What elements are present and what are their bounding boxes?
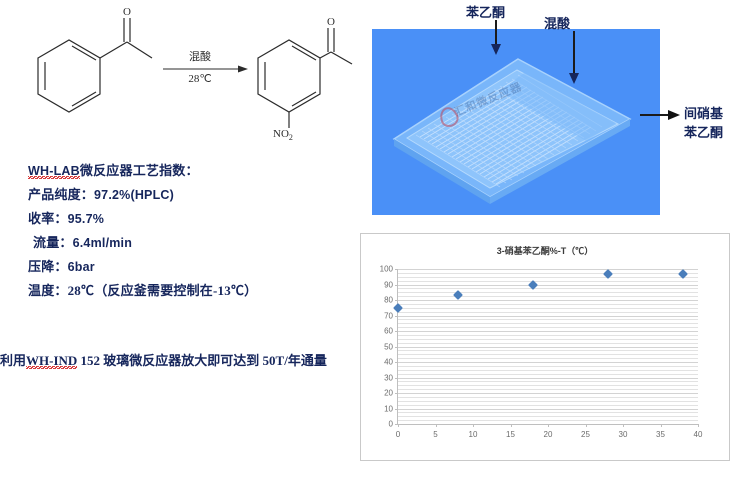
callout-label-product-line2: 苯乙酮 xyxy=(684,123,723,142)
chart-y-tick-label: 60 xyxy=(384,327,393,336)
chart-y-tick-label: 10 xyxy=(384,404,393,413)
carbonyl-oxygen-right: O xyxy=(327,16,335,28)
info-row-pressure-drop: 压降：6bar xyxy=(28,256,365,275)
chart-gridline-major xyxy=(398,285,698,286)
nitro-group-label: NO2 xyxy=(273,128,293,142)
chart-gridline xyxy=(398,335,698,336)
callout-label-acetophenone: 苯乙酮 xyxy=(466,3,505,22)
callout-label-mixed-acid: 混酸 xyxy=(544,14,570,33)
chart-x-tick-label: 40 xyxy=(694,430,703,439)
chart-gridline xyxy=(398,412,698,413)
chart-x-tick-mark xyxy=(586,424,587,427)
chart-gridline-major xyxy=(398,393,698,394)
chart-gridline xyxy=(398,385,698,386)
chart-y-tick-mark xyxy=(395,362,398,363)
chart-gridline xyxy=(398,420,698,421)
process-index-block: WH-LAB微反应器工艺指数： 产品纯度：97.2%(HPLC) 收率：95.7… xyxy=(0,160,365,304)
chart-gridline-major xyxy=(398,300,698,301)
chart-y-tick-label: 80 xyxy=(384,296,393,305)
chart-gridline-major xyxy=(398,331,698,332)
chart-gridline xyxy=(398,323,698,324)
chart-y-tick-mark xyxy=(395,378,398,379)
chart-x-tick-mark xyxy=(548,424,549,427)
callout-arrow-acetophenone-line xyxy=(495,20,497,47)
conversion-chart-panel: 3-硝基苯乙酮%-T（℃） 0102030405060708090100 051… xyxy=(360,233,730,461)
chart-gridline xyxy=(398,416,698,417)
info-row-purity: 产品纯度：97.2%(HPLC) xyxy=(28,184,365,203)
chart-gridline xyxy=(398,405,698,406)
chart-gridline-major xyxy=(398,409,698,410)
chart-x-tick-label: 10 xyxy=(469,430,478,439)
chart-gridline-major xyxy=(398,347,698,348)
chart-gridline xyxy=(398,397,698,398)
chart-x-tick-label: 35 xyxy=(656,430,665,439)
chart-gridline xyxy=(398,381,698,382)
chart-y-tick-mark xyxy=(395,347,398,348)
chart-gridline-major xyxy=(398,269,698,270)
callout-arrow-product-head xyxy=(668,109,681,122)
callout-arrow-mixed-acid-head xyxy=(567,73,581,85)
reaction-reagent-label: 混酸 xyxy=(172,48,228,64)
chart-plot-area: 0102030405060708090100 0510152025303540 xyxy=(397,269,698,425)
chart-gridline xyxy=(398,281,698,282)
reaction-arrow-head xyxy=(238,66,248,73)
info-row-temperature: 温度：28℃（反应釜需要控制在-13℃） xyxy=(28,280,365,299)
chart-y-tick-label: 90 xyxy=(384,280,393,289)
chart-y-tick-label: 40 xyxy=(384,358,393,367)
microreactor-photo: 汇和微反应器 xyxy=(372,29,660,215)
chart-y-tick-label: 100 xyxy=(380,265,393,274)
chart-y-tick-mark xyxy=(395,300,398,301)
chart-y-tick-mark xyxy=(395,331,398,332)
chart-gridline xyxy=(398,350,698,351)
callout-arrow-acetophenone-head xyxy=(489,44,503,56)
chart-x-tick-label: 30 xyxy=(619,430,628,439)
process-index-heading-code: WH-LAB xyxy=(28,164,80,179)
chart-x-tick-mark xyxy=(661,424,662,427)
microreactor-illustration xyxy=(372,29,660,215)
chart-gridline xyxy=(398,308,698,309)
reaction-temperature-label: 28℃ xyxy=(172,72,228,85)
chart-y-tick-label: 30 xyxy=(384,373,393,382)
chart-gridline xyxy=(398,319,698,320)
chart-title: 3-硝基苯乙酮%-T（℃） xyxy=(361,244,729,257)
chart-gridline xyxy=(398,354,698,355)
chart-gridline xyxy=(398,343,698,344)
chart-x-tick-label: 0 xyxy=(396,430,400,439)
chart-gridline xyxy=(398,292,698,293)
chart-y-tick-mark xyxy=(395,269,398,270)
scaleup-model-code: WH-IND xyxy=(26,353,77,369)
chart-gridline xyxy=(398,358,698,359)
chart-gridline xyxy=(398,277,698,278)
chart-gridline xyxy=(398,288,698,289)
chart-y-tick-mark xyxy=(395,316,398,317)
chart-gridline xyxy=(398,389,698,390)
chart-gridline xyxy=(398,304,698,305)
info-row-flowrate: 流量：6.4ml/min xyxy=(33,232,365,251)
chart-y-tick-label: 0 xyxy=(389,420,393,429)
chart-gridline-major xyxy=(398,316,698,317)
chart-y-tick-label: 50 xyxy=(384,342,393,351)
chart-x-tick-label: 20 xyxy=(544,430,553,439)
chart-gridline xyxy=(398,327,698,328)
chart-gridline xyxy=(398,273,698,274)
chart-gridline xyxy=(398,339,698,340)
chart-gridline-major xyxy=(398,378,698,379)
chart-x-tick-mark xyxy=(623,424,624,427)
chart-x-tick-label: 15 xyxy=(506,430,515,439)
chart-gridlines xyxy=(398,269,698,424)
chart-y-tick-mark xyxy=(395,393,398,394)
info-row-yield: 收率：95.7% xyxy=(28,208,365,227)
chart-x-tick-mark xyxy=(473,424,474,427)
chart-x-tick-mark xyxy=(436,424,437,427)
chart-y-tick-mark xyxy=(395,285,398,286)
process-index-heading: WH-LAB微反应器工艺指数： xyxy=(28,160,365,179)
chart-x-tick-mark xyxy=(698,424,699,427)
callout-arrow-mixed-acid-line xyxy=(573,31,575,76)
chart-gridline xyxy=(398,296,698,297)
chart-gridline-major xyxy=(398,362,698,363)
carbonyl-oxygen-left: O xyxy=(123,6,131,18)
scaleup-summary: 利用WH-IND 152 玻璃微反应器放大即可达到 50T/年通量 xyxy=(0,348,360,374)
chart-x-tick-mark xyxy=(511,424,512,427)
chart-x-tick-mark xyxy=(398,424,399,427)
callout-label-product-line1: 间硝基 xyxy=(684,104,723,123)
chart-y-tick-label: 70 xyxy=(384,311,393,320)
chart-x-tick-label: 25 xyxy=(581,430,590,439)
chart-y-tick-label: 20 xyxy=(384,389,393,398)
reaction-scheme: O O 混酸 28℃ NO2 xyxy=(0,0,360,160)
callout-label-product: 间硝基 苯乙酮 xyxy=(684,104,723,142)
chart-x-tick-label: 5 xyxy=(433,430,437,439)
chart-gridline xyxy=(398,370,698,371)
chart-gridline xyxy=(398,312,698,313)
chart-gridline xyxy=(398,374,698,375)
chart-gridline xyxy=(398,366,698,367)
chart-y-tick-mark xyxy=(395,409,398,410)
chart-gridline xyxy=(398,401,698,402)
